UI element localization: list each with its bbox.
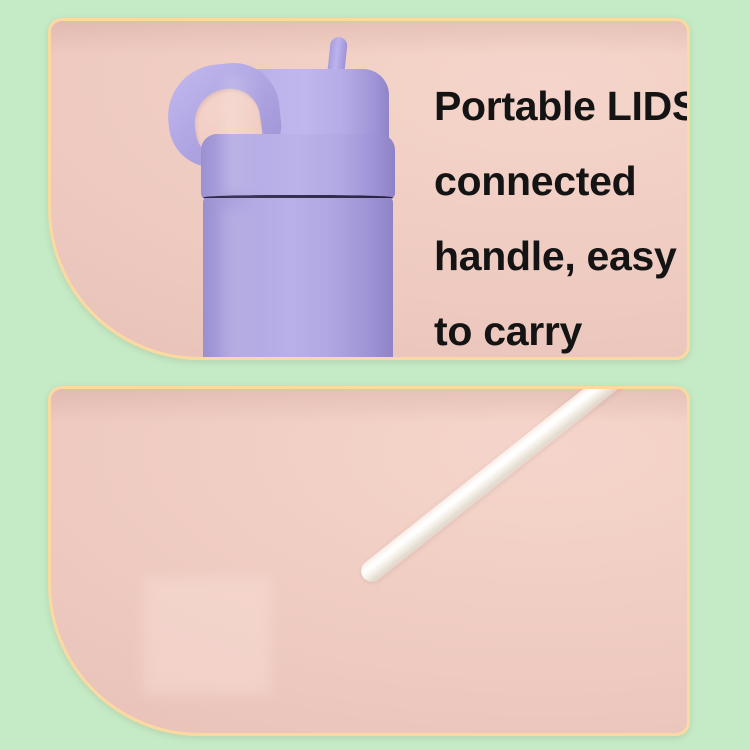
infographic-canvas: Portable LIDS connected handle, easy to … xyxy=(0,0,750,750)
caption-line: connected xyxy=(434,144,690,219)
feature-card-portable-lids: Portable LIDS connected handle, easy to … xyxy=(48,18,690,360)
feature-caption-portable-lids: Portable LIDS connected handle, easy to … xyxy=(434,69,690,360)
water-bottle-image xyxy=(155,36,401,360)
straw-highlight xyxy=(368,386,676,571)
caption-line: Portable LIDS xyxy=(434,69,690,144)
caption-line: handle, easy xyxy=(434,219,690,294)
bottle-lid-collar xyxy=(201,134,395,200)
caption-line: to carry xyxy=(434,294,690,360)
silicone-straw-image xyxy=(357,386,690,586)
bottle-body xyxy=(203,198,393,360)
feature-card-transparent-straw: Transparent straw made of silica gel xyxy=(48,386,690,736)
card-light-patch xyxy=(143,577,271,695)
